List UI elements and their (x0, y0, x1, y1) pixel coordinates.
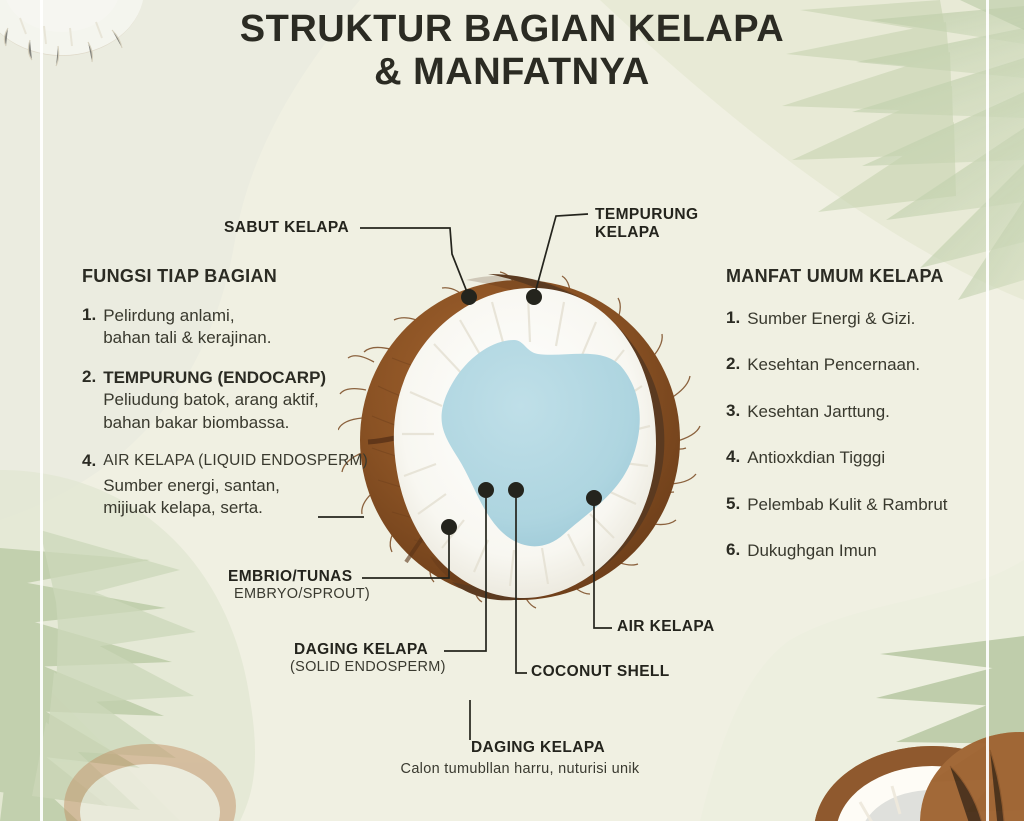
list-item: 5. Pelembab Kulit & Rambrut (726, 494, 996, 516)
list-item-line: Peliudung batok, arang aktif, (103, 389, 326, 411)
list-item-number: 6. (726, 540, 740, 562)
list-item-text: Antioxkdian Tigggi (747, 447, 885, 469)
list-item-body: TEMPURUNG (ENDOCARP) Peliudung batok, ar… (103, 367, 326, 434)
list-item-line: Sumber energi, santan, (103, 475, 368, 497)
list-item-number: 4. (726, 447, 740, 469)
list-item-text: Sumber Energi & Gizi. (747, 308, 915, 330)
left-column-list: 1. Pelirdung anlami, bahan tali & keraji… (82, 305, 382, 537)
list-item-text: Dukughgan Imun (747, 540, 876, 562)
infographic-canvas: STRUKTUR BAGIAN KELAPA & MANFATNYA (0, 0, 1024, 821)
callout-daging-kelapa-left-title: DAGING KELAPA (294, 641, 446, 659)
callout-coconut-shell-title: COCONUT SHELL (531, 663, 670, 681)
embrio-tunas-marker (441, 519, 457, 535)
list-item: 4. Antioxkdian Tigggi (726, 447, 996, 469)
right-column-list: 1. Sumber Energi & Gizi. 2. Kesehtan Pen… (726, 308, 996, 587)
list-item-number: 2. (82, 367, 96, 434)
leader-coconut-shell (516, 490, 527, 673)
callout-embrio-tunas-sub: EMBRYO/SPROUT) (234, 586, 370, 603)
list-item-number: 5. (726, 494, 740, 516)
list-item-title: TEMPURUNG (ENDOCARP) (103, 367, 326, 389)
callout-tempurung-kelapa-title: TEMPURUNG KELAPA (595, 206, 699, 243)
list-item-title: AIR KELAPA (LIQUID ENDOSPERM) (103, 451, 368, 471)
callout-air-kelapa: AIR KELAPA (617, 618, 715, 636)
list-item: 2. TEMPURUNG (ENDOCARP) Peliudung batok,… (82, 367, 382, 434)
list-item-body: Pelirdung anlami, bahan tali & kerajinan… (103, 305, 271, 350)
callout-daging-kelapa-bottom-sub: Calon tumubllan harru, nuturisi unik (360, 761, 680, 778)
list-item-line: bahan tali & kerajinan. (103, 327, 271, 349)
callout-daging-kelapa-bottom: DAGING KELAPA Calon tumubllan harru, nut… (360, 739, 680, 779)
tempurung-kelapa-marker (526, 289, 542, 305)
list-item: 4. AIR KELAPA (LIQUID ENDOSPERM) Sumber … (82, 451, 382, 519)
list-item-number: 1. (726, 308, 740, 330)
callout-embrio-tunas: EMBRIO/TUNAS EMBRYO/SPROUT) (228, 568, 370, 604)
list-item-text: Pelembab Kulit & Rambrut (747, 494, 947, 516)
sabut-kelapa-marker (461, 289, 477, 305)
coconut-shell-marker (508, 482, 524, 498)
list-item-number: 3. (726, 401, 740, 423)
list-item: 1. Pelirdung anlami, bahan tali & keraji… (82, 305, 382, 350)
right-column-heading: MANFAT UMUM KELAPA (726, 266, 944, 287)
callout-embrio-tunas-title: EMBRIO/TUNAS (228, 568, 370, 586)
list-item-line: bahan bakar biombassa. (103, 412, 326, 434)
callout-sabut-kelapa: SABUT KELAPA (224, 219, 349, 237)
marker-dots (441, 289, 602, 535)
callout-sabut-kelapa-title: SABUT KELAPA (224, 219, 349, 237)
air-kelapa-marker (586, 490, 602, 506)
callout-daging-kelapa-left: DAGING KELAPA (SOLID ENDOSPERM) (294, 641, 446, 677)
callout-air-kelapa-title: AIR KELAPA (617, 618, 715, 636)
daging-kelapa-marker (478, 482, 494, 498)
left-column-heading: FUNGSI TIAP BAGIAN (82, 266, 277, 287)
list-item: 2. Kesehtan Pencernaan. (726, 354, 996, 376)
list-item: 1. Sumber Energi & Gizi. (726, 308, 996, 330)
callout-tempurung-kelapa: TEMPURUNG KELAPA (595, 206, 699, 243)
list-item-number: 2. (726, 354, 740, 376)
leader-air-kelapa (594, 498, 612, 628)
callout-daging-kelapa-bottom-title: DAGING KELAPA (396, 739, 680, 757)
list-item-number: 4. (82, 451, 96, 519)
leader-daging-kelapa-left (444, 490, 486, 651)
leader-sabut-kelapa (360, 228, 469, 297)
list-item-line: mijiuak kelapa, serta. (103, 497, 368, 519)
list-item: 6. Dukughgan Imun (726, 540, 996, 562)
callout-coconut-shell: COCONUT SHELL (531, 663, 670, 681)
list-item-number: 1. (82, 305, 96, 350)
list-item-line: Pelirdung anlami, (103, 305, 271, 327)
callout-daging-kelapa-left-sub: (SOLID ENDOSPERM) (290, 659, 446, 676)
list-item-text: Kesehtan Jarttung. (747, 401, 890, 423)
list-item: 3. Kesehtan Jarttung. (726, 401, 996, 423)
list-item-text: Kesehtan Pencernaan. (747, 354, 920, 376)
leader-tempurung-kelapa (534, 214, 588, 297)
list-item-body: AIR KELAPA (LIQUID ENDOSPERM) Sumber ene… (103, 451, 368, 519)
